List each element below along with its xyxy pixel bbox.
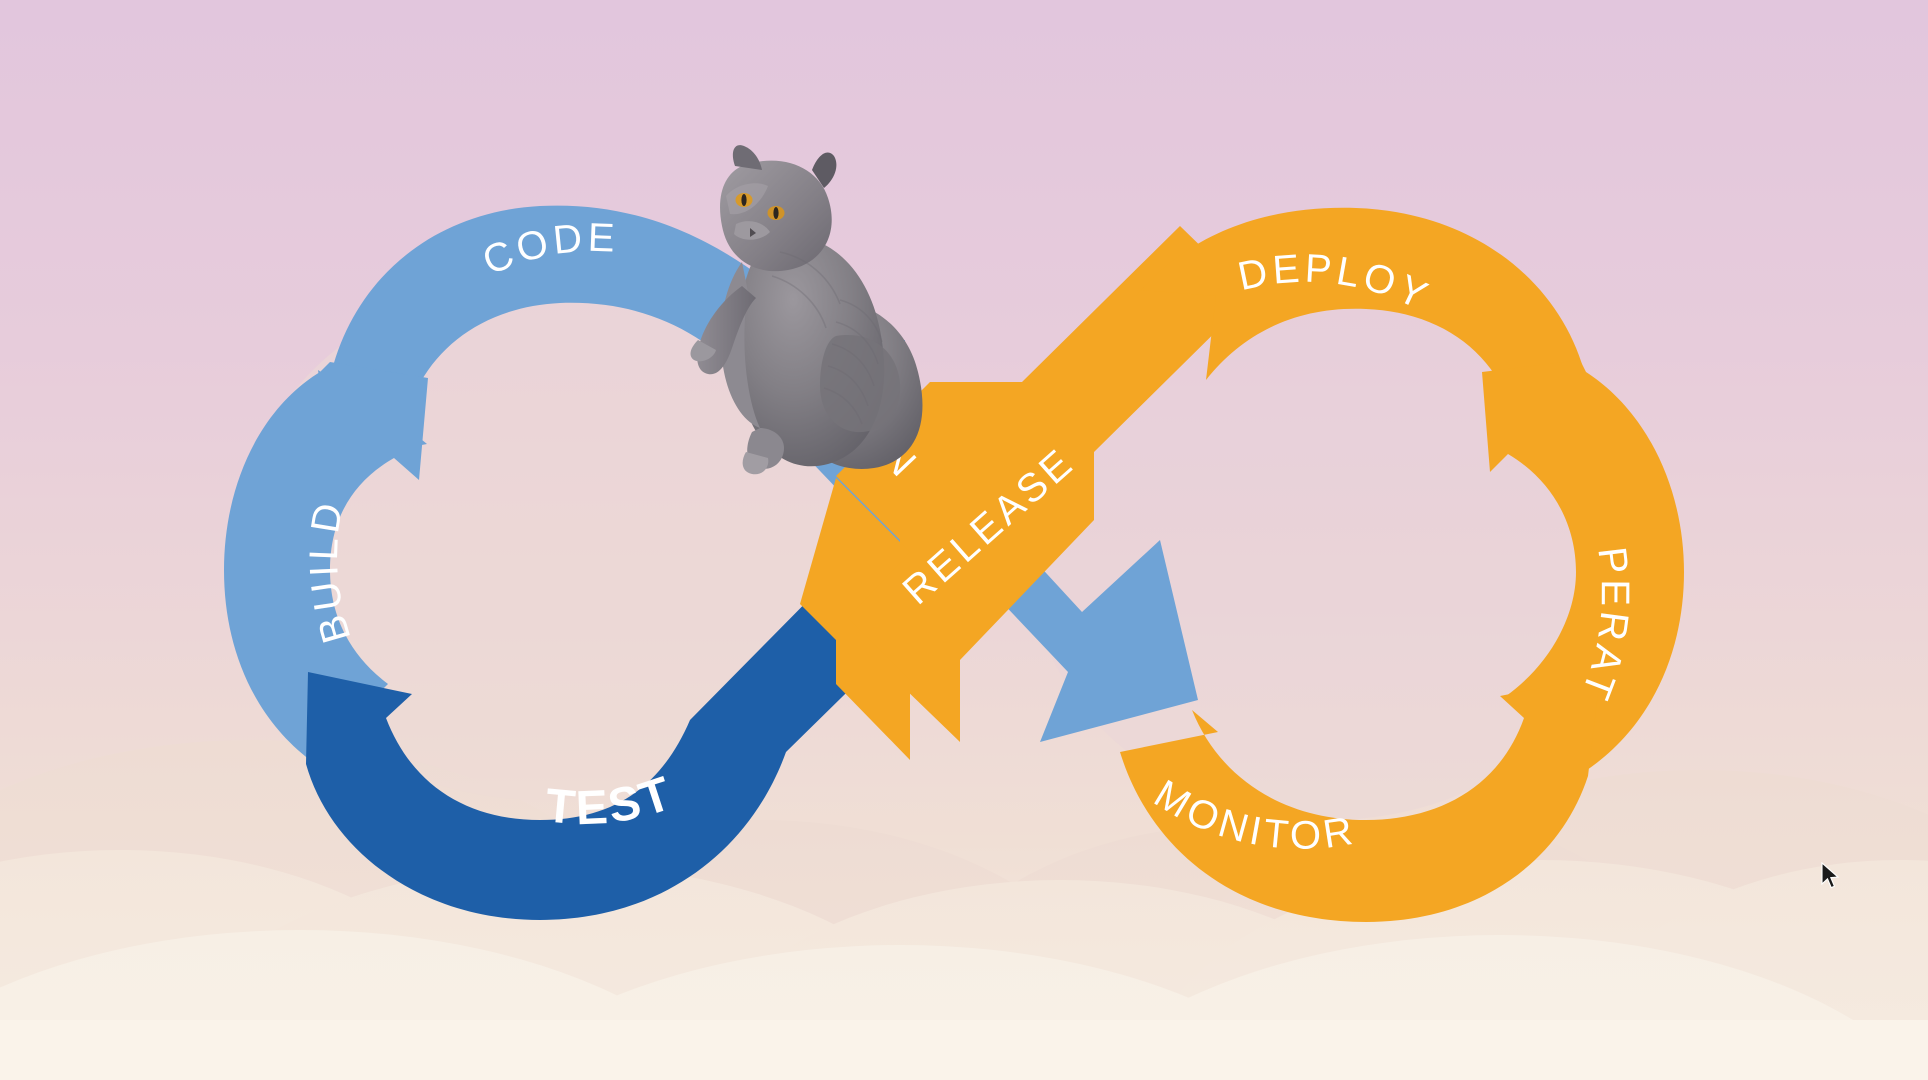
diagram-canvas: CODE BUILD TEST PLAN RELEASE DEPLOY OPER… <box>0 0 1928 1080</box>
cat-body-group <box>691 145 923 474</box>
cat-mascot <box>0 0 1928 1080</box>
